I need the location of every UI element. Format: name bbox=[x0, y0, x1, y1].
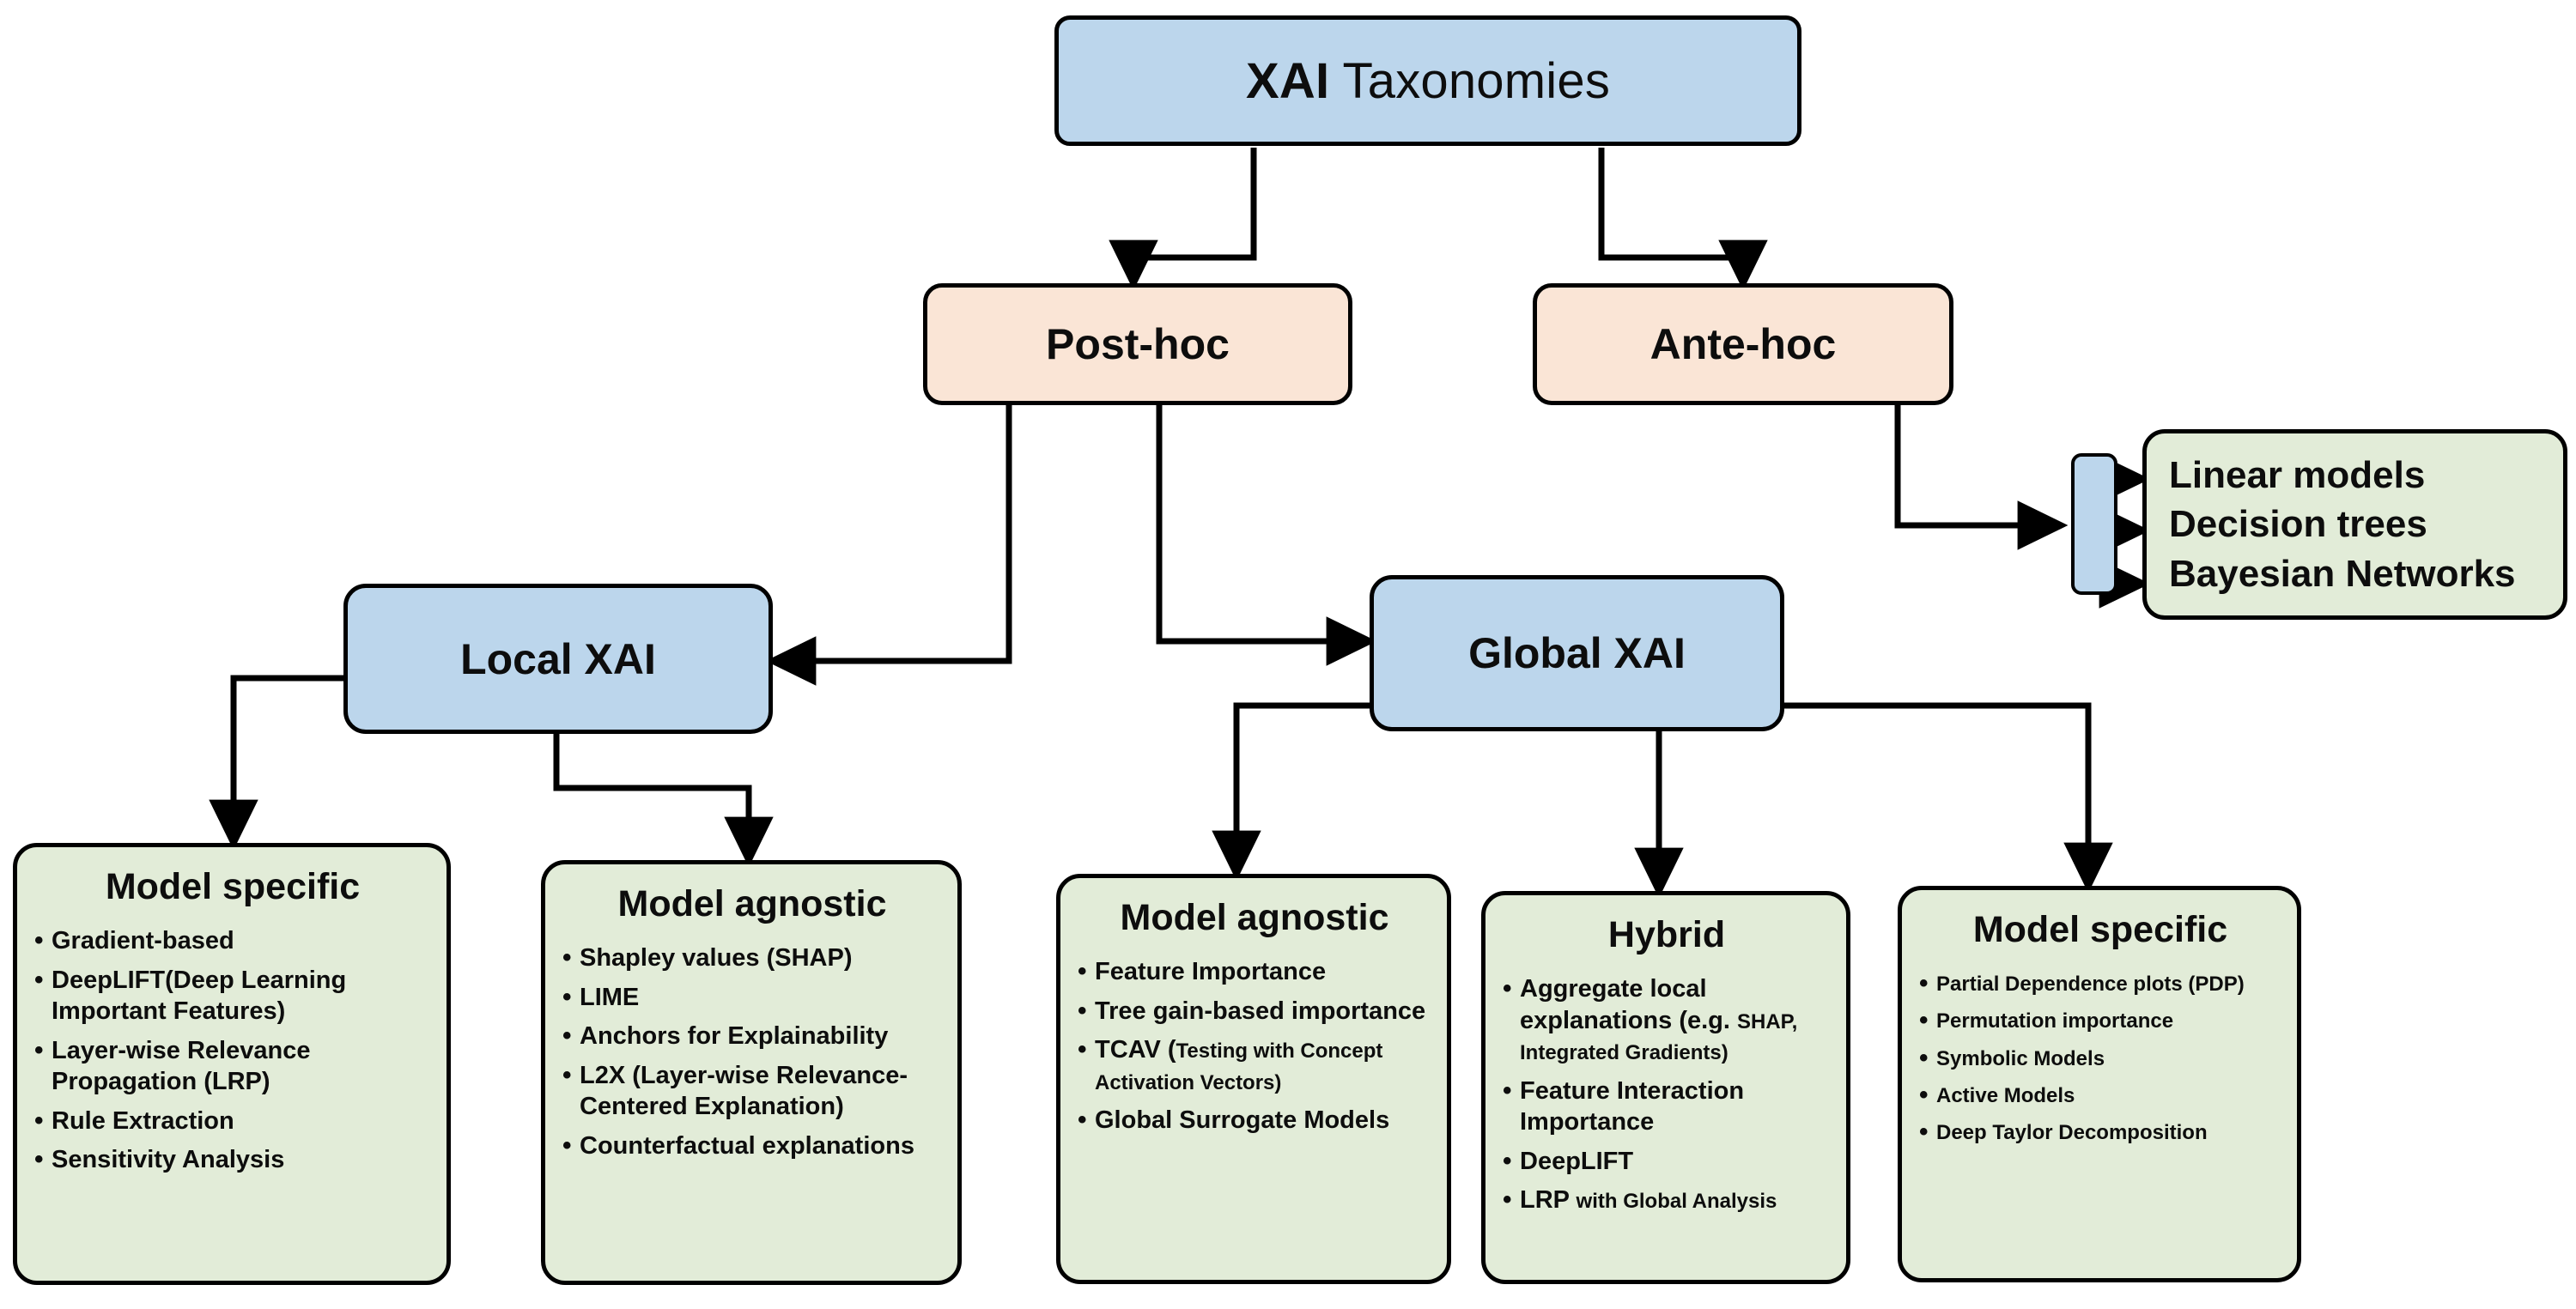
list-item: Sensitivity Analysis bbox=[33, 1144, 433, 1176]
leaf-local-model-agnostic[interactable]: Model agnostic Shapley values (SHAP) LIM… bbox=[541, 860, 962, 1285]
leaf-global-hybrid[interactable]: Hybrid Aggregate local explanations (e.g… bbox=[1481, 891, 1850, 1284]
list-item: Aggregate local explanations (e.g. SHAP,… bbox=[1501, 973, 1832, 1068]
list-item: Gradient-based bbox=[33, 925, 433, 957]
node-root[interactable]: XAI Taxonomies bbox=[1054, 15, 1801, 146]
item-small: Partial Dependence plots (PDP) bbox=[1936, 973, 2245, 996]
item-main: DeepLIFT(Deep Learning Important Feature… bbox=[52, 967, 346, 1026]
list-item: Shapley values (SHAP) bbox=[561, 942, 944, 974]
leaf-global-model-specific[interactable]: Model specific Partial Dependence plots … bbox=[1898, 886, 2301, 1282]
list-item: Layer-wise Relevance Propagation (LRP) bbox=[33, 1035, 433, 1098]
edge-root-to-antehoc bbox=[1601, 148, 1743, 283]
leaf-item-list: Feature Importance Tree gain-based impor… bbox=[1076, 956, 1433, 1144]
item-main: Shapley values (SHAP) bbox=[580, 944, 853, 972]
node-post-hoc[interactable]: Post-hoc bbox=[923, 283, 1352, 405]
node-local-xai[interactable]: Local XAI bbox=[343, 584, 773, 734]
list-item: Rule Extraction bbox=[33, 1106, 433, 1137]
edge-root-to-posthoc bbox=[1133, 148, 1254, 283]
item-small: Active Models bbox=[1936, 1084, 2075, 1107]
item-small: Permutation importance bbox=[1936, 1009, 2173, 1033]
list-item: Feature Interaction Importance bbox=[1501, 1076, 1832, 1138]
list-item: LIME bbox=[561, 982, 944, 1014]
leaf-item-list: Partial Dependence plots (PDP) Permutati… bbox=[1917, 968, 2283, 1154]
ante-hoc-item: Bayesian Networks bbox=[2169, 549, 2548, 598]
item-main: LIME bbox=[580, 984, 639, 1011]
diagram-canvas: XAI Taxonomies Post-hoc Ante-hoc Local X… bbox=[0, 0, 2576, 1309]
edge-global-to-model-agnostic bbox=[1236, 706, 1370, 874]
list-item: DeepLIFT bbox=[1501, 1146, 1832, 1178]
ante-hoc-connector-bar bbox=[2071, 453, 2117, 595]
list-item: Tree gain-based importance bbox=[1076, 996, 1433, 1027]
ante-hoc-label: Ante-hoc bbox=[1650, 319, 1837, 369]
edge-antehoc-to-connector bbox=[1898, 405, 2061, 525]
edge-posthoc-to-local bbox=[773, 405, 1009, 661]
edge-local-to-model-agnostic bbox=[556, 734, 749, 860]
list-item: Active Models bbox=[1917, 1080, 2283, 1109]
node-ante-hoc[interactable]: Ante-hoc bbox=[1533, 283, 1953, 405]
root-title: XAI Taxonomies bbox=[1246, 52, 1610, 110]
edge-local-to-model-specific bbox=[234, 678, 343, 843]
list-item: LRP with Global Analysis bbox=[1501, 1185, 1832, 1216]
leaf-local-model-specific[interactable]: Model specific Gradient-based DeepLIFT(D… bbox=[13, 843, 451, 1285]
item-small: Symbolic Models bbox=[1936, 1047, 2105, 1070]
edge-global-to-model-specific bbox=[1784, 706, 2088, 886]
leaf-title: Model agnostic bbox=[561, 885, 944, 924]
item-main: Feature Importance bbox=[1095, 958, 1326, 985]
root-title-rest: Taxonomies bbox=[1329, 53, 1610, 109]
global-xai-label: Global XAI bbox=[1468, 628, 1686, 678]
edge-posthoc-to-global bbox=[1159, 405, 1370, 641]
local-xai-label: Local XAI bbox=[460, 634, 656, 684]
list-item: Permutation importance bbox=[1917, 1005, 2283, 1034]
root-title-bold: XAI bbox=[1246, 53, 1329, 109]
leaf-item-list: Gradient-based DeepLIFT(Deep Learning Im… bbox=[33, 925, 433, 1184]
list-item: Counterfactual explanations bbox=[561, 1130, 944, 1162]
leaf-title: Model specific bbox=[33, 868, 433, 906]
item-main: Counterfactual explanations bbox=[580, 1132, 914, 1160]
item-main: TCAV ( bbox=[1095, 1036, 1176, 1064]
ante-hoc-item: Decision trees bbox=[2169, 500, 2548, 548]
list-item: Symbolic Models bbox=[1917, 1043, 2283, 1072]
list-item: Feature Importance bbox=[1076, 956, 1433, 988]
item-small: with Global Analysis bbox=[1577, 1190, 1777, 1213]
item-main: Tree gain-based importance bbox=[1095, 997, 1425, 1025]
list-item: Partial Dependence plots (PDP) bbox=[1917, 968, 2283, 997]
list-item: DeepLIFT(Deep Learning Important Feature… bbox=[33, 965, 433, 1027]
item-main: Aggregate local explanations (e.g. bbox=[1520, 975, 1737, 1034]
ante-hoc-item: Linear models bbox=[2169, 451, 2548, 500]
item-main: Gradient-based bbox=[52, 927, 234, 954]
list-item: TCAV (Testing with Concept Activation Ve… bbox=[1076, 1034, 1433, 1097]
item-main: Sensitivity Analysis bbox=[52, 1146, 284, 1173]
list-item: L2X (Layer-wise Relevance-Centered Expla… bbox=[561, 1060, 944, 1123]
item-main: LRP bbox=[1520, 1186, 1577, 1214]
list-item: Global Surrogate Models bbox=[1076, 1105, 1433, 1136]
list-item: Deep Taylor Decomposition bbox=[1917, 1117, 2283, 1146]
item-main: Rule Extraction bbox=[52, 1107, 234, 1135]
item-main: L2X (Layer-wise Relevance-Centered Expla… bbox=[580, 1062, 908, 1121]
leaf-global-model-agnostic[interactable]: Model agnostic Feature Importance Tree g… bbox=[1056, 874, 1451, 1284]
leaf-item-list: Aggregate local explanations (e.g. SHAP,… bbox=[1501, 973, 1832, 1224]
leaf-title: Model agnostic bbox=[1076, 899, 1433, 937]
leaf-title: Hybrid bbox=[1501, 916, 1832, 954]
post-hoc-label: Post-hoc bbox=[1046, 319, 1230, 369]
leaf-item-list: Shapley values (SHAP) LIME Anchors for E… bbox=[561, 942, 944, 1169]
item-small: Deep Taylor Decomposition bbox=[1936, 1121, 2208, 1144]
item-main: Global Surrogate Models bbox=[1095, 1106, 1389, 1134]
node-global-xai[interactable]: Global XAI bbox=[1370, 575, 1784, 731]
item-main: DeepLIFT bbox=[1520, 1148, 1633, 1175]
item-main: Anchors for Explainability bbox=[580, 1022, 888, 1050]
item-main: Feature Interaction Importance bbox=[1520, 1077, 1744, 1136]
list-item: Anchors for Explainability bbox=[561, 1021, 944, 1052]
ante-hoc-items-box[interactable]: Linear models Decision trees Bayesian Ne… bbox=[2142, 429, 2567, 620]
leaf-title: Model specific bbox=[1917, 911, 2283, 949]
item-main: Layer-wise Relevance Propagation (LRP) bbox=[52, 1037, 310, 1096]
